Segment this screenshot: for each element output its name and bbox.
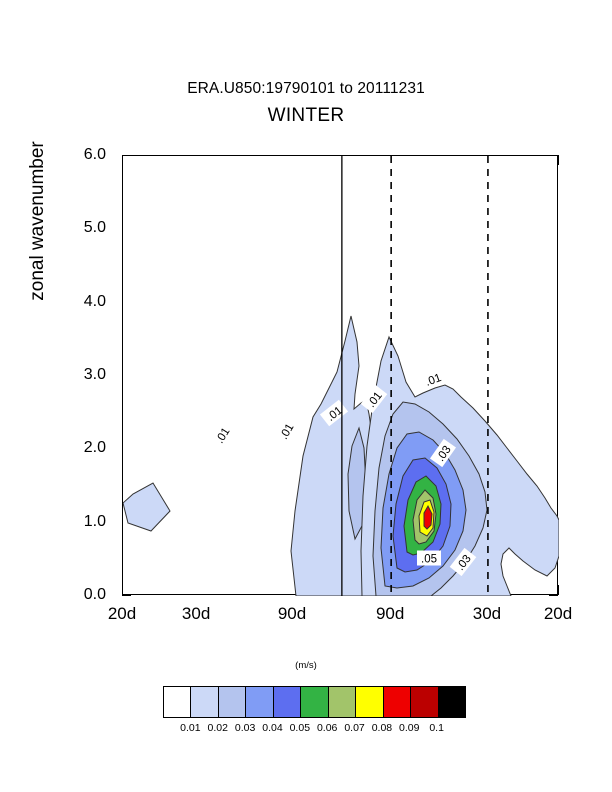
- colorbar-swatch[interactable]: [439, 687, 465, 717]
- x-tick-label: 20d: [528, 604, 588, 624]
- colorbar[interactable]: [163, 686, 466, 718]
- colorbar-swatch[interactable]: [411, 687, 438, 717]
- x-tick-label: 30d: [166, 604, 226, 624]
- contour-label: .01: [274, 417, 299, 445]
- contour-band-0.01: [123, 483, 170, 531]
- y-tick-label: 2.0: [60, 439, 106, 457]
- x-tick-label: 90d: [360, 604, 420, 624]
- colorbar-swatch[interactable]: [164, 687, 191, 717]
- colorbar-swatch[interactable]: [301, 687, 328, 717]
- x-tick-label: 90d: [262, 604, 322, 624]
- colorbar-tick-labels: 0.010.020.030.040.050.060.070.080.090.1: [163, 722, 464, 738]
- contour-field: .01.01.01.01.01.03.03.05: [123, 156, 559, 596]
- y-tick-label: 0.0: [60, 586, 106, 604]
- colorbar-swatch[interactable]: [274, 687, 301, 717]
- colorbar-swatch[interactable]: [246, 687, 273, 717]
- y-tick-label: 3.0: [60, 366, 106, 384]
- contour-label: .01: [209, 421, 234, 449]
- figure-canvas: ERA.U850:19790101 to 20111231 WINTER zon…: [0, 0, 612, 792]
- figure-title: ERA.U850:19790101 to 20111231: [0, 80, 612, 98]
- svg-text:.05: .05: [421, 554, 437, 566]
- y-axis-title: zonal wavenumber: [27, 111, 49, 331]
- colorbar-swatch[interactable]: [191, 687, 218, 717]
- colorbar-tick-label: 0.1: [417, 722, 457, 734]
- y-tick-label: 1.0: [60, 513, 106, 531]
- y-tick-label: 6.0: [60, 146, 106, 164]
- colorbar-swatch[interactable]: [329, 687, 356, 717]
- y-tick-label: 4.0: [60, 293, 106, 311]
- colorbar-swatch[interactable]: [219, 687, 246, 717]
- colorbar-swatch[interactable]: [356, 687, 383, 717]
- figure-subtitle: WINTER: [0, 105, 612, 127]
- x-tick-label: 30d: [457, 604, 517, 624]
- contour-label: .05: [417, 551, 441, 566]
- x-tick-label: 20d: [92, 604, 152, 624]
- colorbar-units-label: (m/s): [0, 660, 612, 671]
- colorbar-swatch[interactable]: [384, 687, 411, 717]
- y-tick-label: 5.0: [60, 219, 106, 237]
- contour-plot-area: .01.01.01.01.01.03.03.05: [122, 155, 558, 595]
